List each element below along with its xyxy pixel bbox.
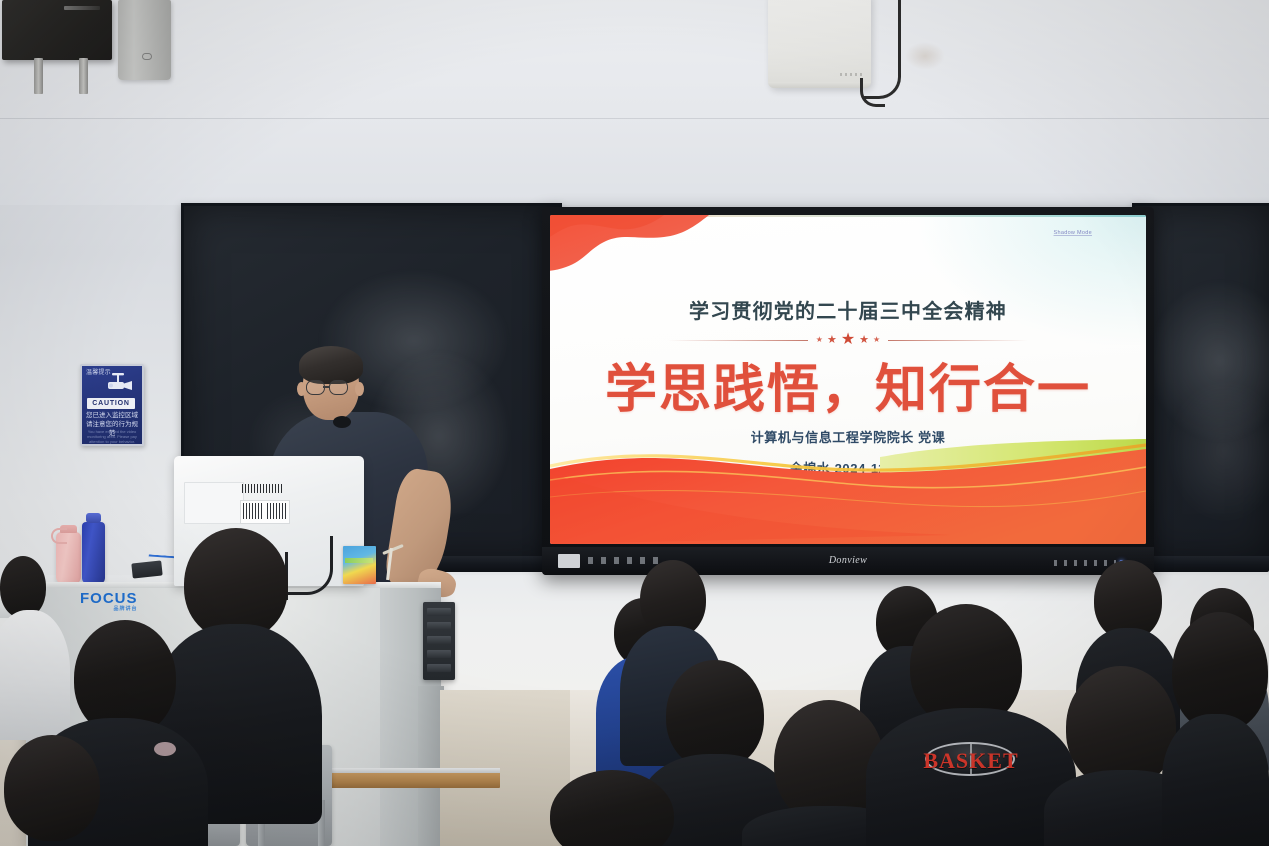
cctv-camera-icon <box>106 373 136 395</box>
panel-slot <box>427 636 451 644</box>
unit-lip <box>768 82 871 88</box>
head <box>4 735 100 841</box>
panel-slot <box>427 664 451 672</box>
presenter-hair <box>299 346 363 384</box>
classroom-photo: 温馨提示 CAUTION 您已进入监控区域 请注意您的行为规范 You have… <box>0 0 1269 846</box>
monitor-asset-label <box>184 482 244 524</box>
sticker-barcode-left <box>243 503 263 519</box>
wall-seam <box>0 118 1269 119</box>
vent-icon <box>840 73 862 76</box>
speaker-bracket-right <box>79 58 88 94</box>
panel-slot <box>427 608 451 616</box>
red-flag-graphic <box>550 215 774 287</box>
smart-display[interactable]: Shadow Mode 学习贯彻党的二十届三中全会精神 ★ ★ ★ ★ ★ 学思… <box>542 207 1154 575</box>
speaker-bracket-left <box>34 58 43 94</box>
speaker-grille <box>64 6 100 10</box>
bottle-handle <box>51 528 67 544</box>
slide-title: 学习贯彻党的二十届三中全会精神 <box>550 295 1146 324</box>
cctv-caution-label: CAUTION <box>87 398 135 409</box>
slide-divider: ★ ★ ★ ★ ★ <box>550 333 1146 347</box>
presenter-ear-left <box>297 382 306 396</box>
slide-wave-graphic <box>550 439 1146 544</box>
basket-logo: BASKET <box>901 748 1041 774</box>
star-icon: ★ <box>841 332 855 348</box>
shadow-mode-watermark: Shadow Mode <box>1054 230 1092 236</box>
panel-slot <box>427 650 451 658</box>
slide-headline: 学思践悟，知行合一 <box>550 347 1146 422</box>
wall-speaker-icon <box>2 0 112 60</box>
podium-brand-label: FOCUS 品牌讲台 <box>80 590 138 612</box>
wall-mounted-unit <box>768 0 871 88</box>
basket-logo-text: BASKET <box>901 748 1041 774</box>
chalk-smudge <box>1165 376 1269 526</box>
monitor-sticker <box>240 500 290 524</box>
cctv-body-en: You have entered the video monitoring ar… <box>85 429 139 444</box>
audience-member <box>1168 612 1269 846</box>
box-stripe <box>345 558 373 563</box>
glasses-lens-right <box>329 380 348 395</box>
blue-water-bottle <box>82 522 105 584</box>
desk-package-box <box>343 546 376 584</box>
slide-teal-tint <box>916 215 1146 345</box>
cctv-warning-sign: 温馨提示 CAUTION 您已进入监控区域 请注意您的行为规范 You have… <box>80 364 144 446</box>
star-icon: ★ <box>816 336 823 344</box>
bottle-cap <box>86 513 101 523</box>
audience-member <box>540 770 690 846</box>
podium-connector-panel[interactable] <box>423 602 455 680</box>
star-group: ★ ★ ★ ★ ★ <box>816 332 880 348</box>
torso <box>1162 714 1269 846</box>
display-bezel: Shadow Mode 学习贯彻党的二十届三中全会精神 ★ ★ ★ ★ ★ 学思… <box>550 215 1146 544</box>
star-icon: ★ <box>859 335 869 346</box>
audience-member <box>0 735 120 846</box>
upper-wall <box>0 0 1269 205</box>
shoulder-badge <box>154 742 176 756</box>
panel-knob <box>142 53 152 60</box>
star-icon: ★ <box>873 336 880 344</box>
wall-stain <box>905 42 945 70</box>
lapel-mic-icon <box>333 416 351 428</box>
sticker-barcode-right <box>267 503 287 519</box>
presentation-slide: Shadow Mode 学习贯彻党的二十届三中全会精神 ★ ★ ★ ★ ★ 学思… <box>550 215 1146 544</box>
monitor-barcode <box>242 484 284 493</box>
head <box>550 770 674 846</box>
head <box>0 556 46 618</box>
wall-metal-panel <box>118 0 171 80</box>
divider-rule-right <box>888 340 1028 341</box>
panel-slot <box>427 622 451 630</box>
divider-rule-left <box>668 340 808 341</box>
star-icon: ★ <box>827 335 837 346</box>
eyeglasses-icon <box>306 380 358 396</box>
